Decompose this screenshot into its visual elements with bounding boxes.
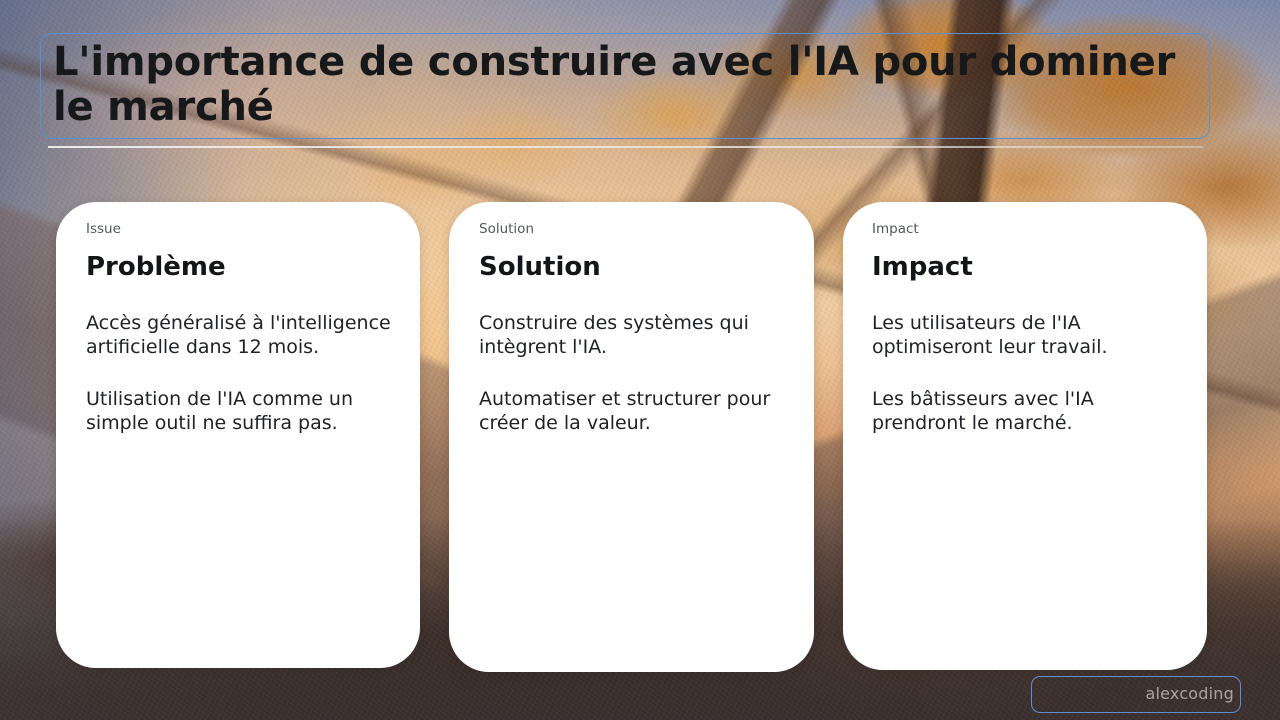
card-paragraph: Les utilisateurs de l'IA optimiseront le…: [872, 311, 1185, 359]
card-paragraph: Accès généralisé à l'intelligence artifi…: [86, 311, 398, 359]
card-impact[interactable]: Impact Impact Les utilisateurs de l'IA o…: [843, 202, 1207, 670]
card-paragraph: Automatiser et structurer pour créer de …: [479, 387, 792, 435]
slide-title-box: L'importance de construire avec l'IA pou…: [40, 33, 1210, 139]
card-heading-solution: Solution: [464, 251, 792, 283]
card-body-solution: Construire des systèmes qui intègrent l'…: [464, 311, 792, 435]
card-paragraph: Utilisation de l'IA comme un simple outi…: [86, 387, 398, 435]
title-divider: [48, 146, 1203, 148]
presentation-slide: L'importance de construire avec l'IA pou…: [0, 0, 1280, 720]
card-body-issue: Accès généralisé à l'intelligence artifi…: [71, 311, 398, 435]
card-eyebrow-solution: Solution: [464, 220, 792, 238]
card-paragraph: Les bâtisseurs avec l'IA prendront le ma…: [872, 387, 1185, 435]
card-eyebrow-impact: Impact: [858, 220, 1185, 238]
watermark-label: alexcoding: [1146, 684, 1234, 703]
card-heading-impact: Impact: [858, 251, 1185, 283]
card-heading-issue: Problème: [71, 251, 398, 283]
watermark-box: alexcoding: [1031, 676, 1241, 713]
card-solution[interactable]: Solution Solution Construire des système…: [449, 202, 814, 672]
page-title: L'importance de construire avec l'IA pou…: [53, 40, 1195, 130]
card-eyebrow-issue: Issue: [71, 220, 398, 238]
card-issue[interactable]: Issue Problème Accès généralisé à l'inte…: [56, 202, 420, 668]
card-body-impact: Les utilisateurs de l'IA optimiseront le…: [858, 311, 1185, 435]
card-paragraph: Construire des systèmes qui intègrent l'…: [479, 311, 792, 359]
